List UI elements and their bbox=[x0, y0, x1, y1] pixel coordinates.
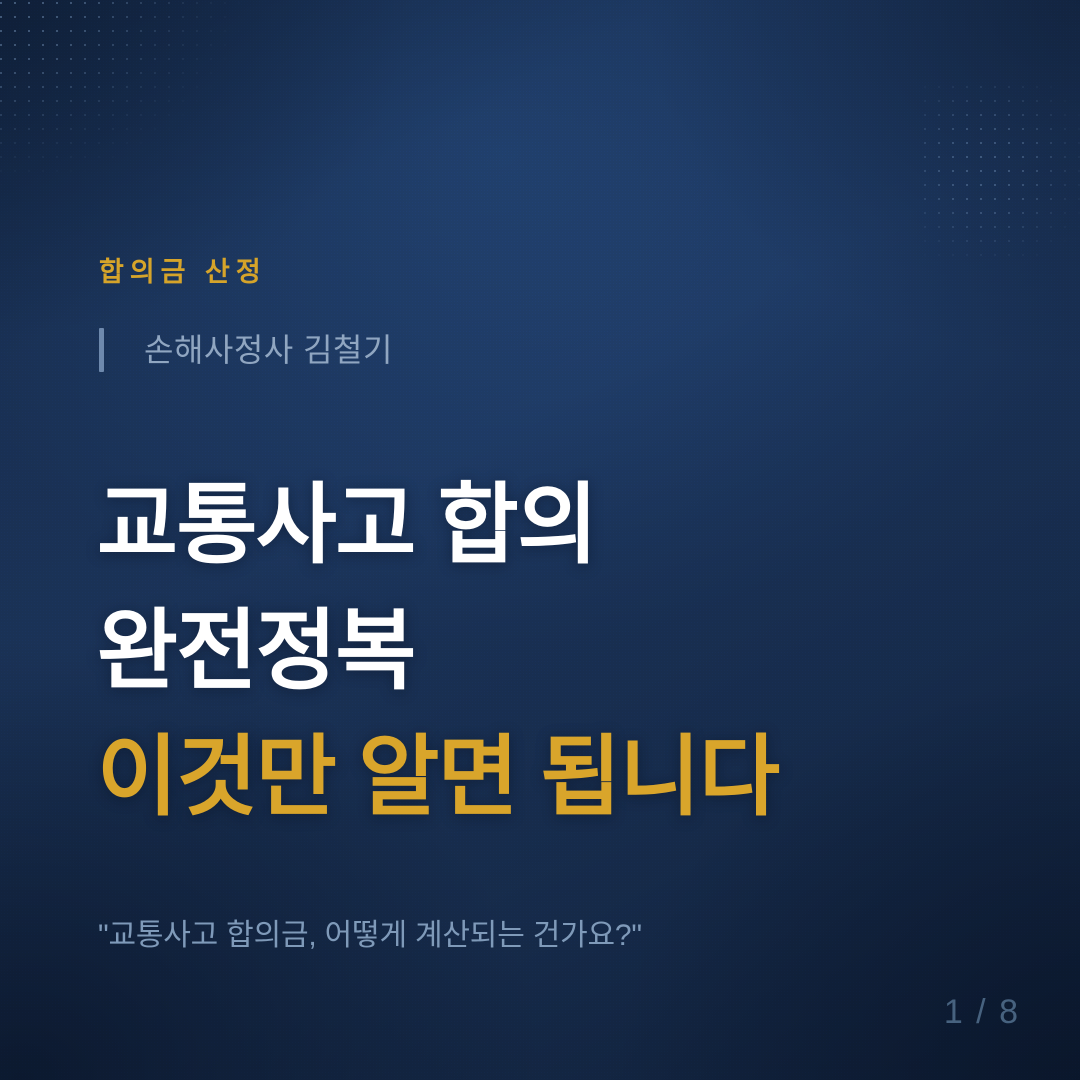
headline-line-2: 완전정복 bbox=[97, 588, 997, 714]
headline-line-3: 이것만 알면 됩니다 bbox=[97, 714, 997, 840]
quote-text: "교통사고 합의금, 어떻게 계산되는 건가요?" bbox=[98, 916, 642, 955]
byline-author-name: 손해사정사 김철기 bbox=[144, 334, 393, 366]
slide-canvas: 합의금 산정 손해사정사 김철기 교통사고 합의 완전정복 이것만 알면 됩니다… bbox=[0, 0, 1080, 1080]
page-indicator: 1 / 8 bbox=[944, 995, 1020, 1029]
eyebrow-label: 합의금 산정 bbox=[99, 259, 267, 286]
byline-accent-bar bbox=[99, 328, 104, 372]
byline: 손해사정사 김철기 bbox=[99, 327, 393, 373]
headline-line-1: 교통사고 합의 bbox=[97, 462, 997, 588]
slide-content: 합의금 산정 손해사정사 김철기 교통사고 합의 완전정복 이것만 알면 됩니다… bbox=[0, 0, 1080, 1080]
page-title: 교통사고 합의 완전정복 이것만 알면 됩니다 bbox=[97, 462, 997, 839]
